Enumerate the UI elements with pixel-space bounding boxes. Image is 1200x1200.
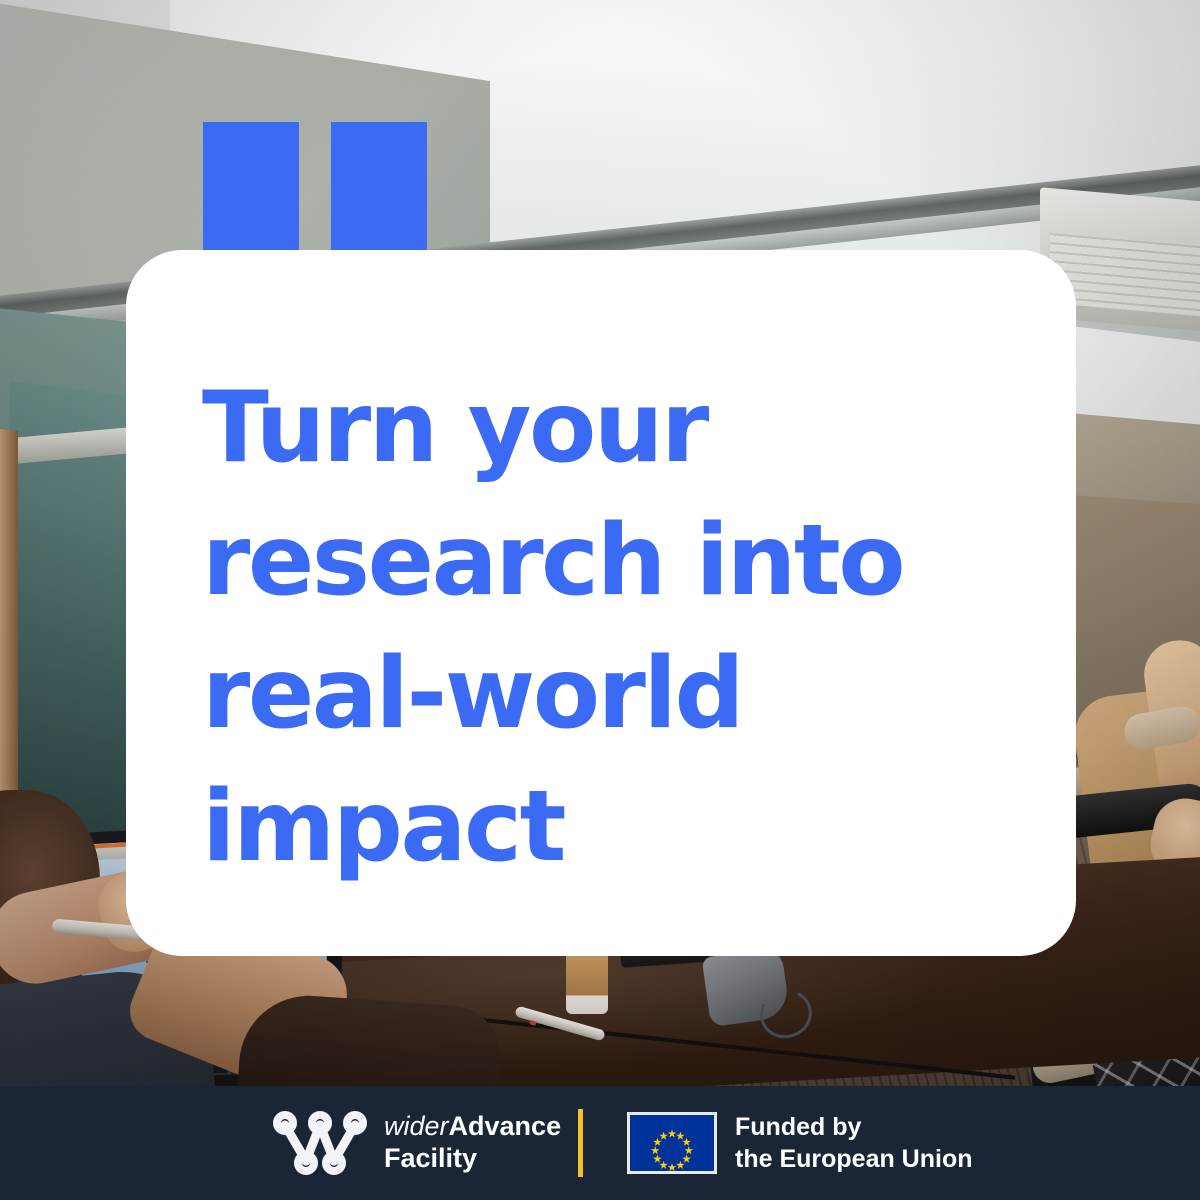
brand-name-light: wider	[384, 1111, 449, 1141]
brand-name: widerAdvance Facility	[384, 1111, 561, 1175]
brand-name-bold: Advance	[449, 1111, 562, 1141]
quote-line-1: Turn your	[202, 362, 1012, 495]
eu-funding-text: Funded by the European Union	[735, 1111, 973, 1175]
quote-text: Turn your research into real-world impac…	[202, 362, 1012, 894]
eu-funding-lockup: Funded by the European Union	[627, 1111, 973, 1175]
window-frame	[0, 429, 18, 851]
brand-name-line-2: Facility	[384, 1143, 561, 1175]
quote-line-4: impact	[202, 761, 1012, 894]
quote-line-2: research into	[202, 495, 1012, 628]
quote-card: Turn your research into real-world impac…	[126, 250, 1076, 956]
brand-name-line-1: widerAdvance	[384, 1111, 561, 1143]
footer-divider	[578, 1109, 583, 1177]
eu-funding-line-1: Funded by	[735, 1111, 973, 1143]
paper-coffee-cup	[566, 952, 608, 1014]
quote-line-3: real-world	[202, 628, 1012, 761]
eu-funding-line-2: the European Union	[735, 1143, 973, 1175]
poster-canvas: 0% Turn your research into	[0, 0, 1200, 1200]
brand-lockup: widerAdvance Facility	[272, 1111, 561, 1175]
eu-flag-icon	[627, 1112, 717, 1174]
footer-bar: widerAdvance Facility	[0, 1086, 1200, 1200]
wideradvance-logo-icon	[272, 1111, 368, 1175]
